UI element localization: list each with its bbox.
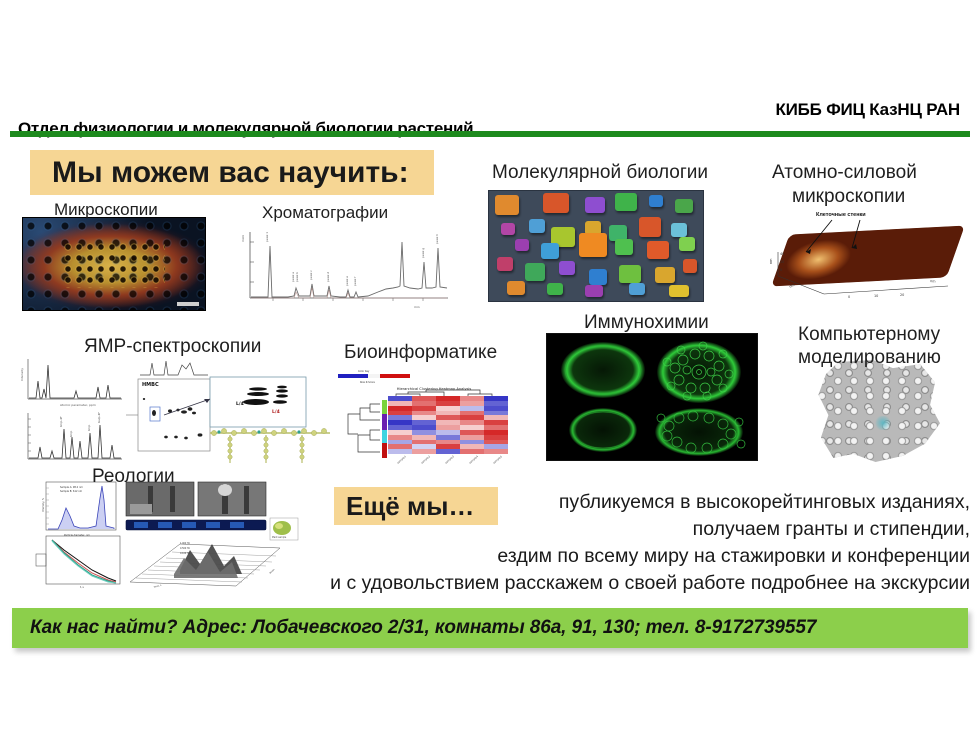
protein-model-image: [808, 356, 948, 464]
label-bioinformatics: Биоинформатике: [344, 342, 497, 364]
svg-text:sample4: sample4: [468, 454, 479, 465]
svg-text:Sample A: 98.2 nm: Sample A: 98.2 nm: [60, 486, 83, 489]
protein-ligand-site: [875, 416, 891, 430]
svg-text:sample1: sample1: [396, 454, 407, 465]
svg-text:peak b: peak b: [295, 272, 299, 282]
svg-text:peak c: peak c: [309, 270, 313, 280]
nmr-image: Intensity Atomic parameter, ppm Glcp-4F …: [14, 355, 332, 467]
svg-text:20: 20: [780, 260, 784, 264]
svg-text:HMBC: HMBC: [142, 382, 159, 388]
svg-text:sample5: sample5: [492, 454, 503, 465]
achievement-line-4: и с удовольствием расскажем о своей рабо…: [150, 570, 970, 597]
achievement-line-3: ездим по всему миру на стажировки и конф…: [150, 543, 970, 570]
label-immunochemistry: Иммунохимии: [584, 312, 709, 334]
heatmap-cell: [436, 449, 460, 454]
bioinf-group-4: [382, 443, 387, 458]
contact-footer-bar: Как нас найти? Адрес: Лобачевского 2/31,…: [12, 608, 968, 648]
achievement-line-1: публикуемся в высокорейтинговых изданиях…: [150, 489, 970, 516]
svg-text:0: 0: [848, 295, 850, 299]
contact-footer-text: Как нас найти? Адрес: Лобачевского 2/31,…: [12, 617, 816, 639]
svg-text:Galp-4F: Galp-4F: [97, 412, 101, 423]
svg-text:sample3: sample3: [444, 454, 455, 465]
microscopy-vascular-bundle: [63, 242, 165, 288]
svg-text:Glcp-4F: Glcp-4F: [59, 416, 63, 427]
microscopy-image: [22, 217, 206, 311]
svg-text:20: 20: [900, 293, 904, 297]
svg-text:Glcp: Glcp: [69, 431, 73, 437]
heatmap-cell: [412, 449, 436, 454]
protein-surface: [816, 360, 940, 462]
heatmap-cell: [388, 449, 412, 454]
microscopy-scale-bar: [177, 302, 199, 306]
svg-text:peak h: peak h: [435, 234, 439, 244]
label-nmr: ЯМР-спектроскопии: [84, 336, 261, 358]
svg-text:sample2: sample2: [420, 454, 431, 465]
label-rheology: Реологии: [92, 466, 175, 488]
svg-text:min: min: [414, 305, 420, 309]
svg-text:peak 1: peak 1: [265, 232, 269, 242]
afm-image: Клеточные стенки nm nm nm 40200 01020: [762, 208, 968, 300]
svg-text:Atomic parameter, ppm: Atomic parameter, ppm: [60, 403, 96, 407]
bioinf-group-2: [382, 414, 387, 430]
svg-text:Glcp: Glcp: [87, 425, 91, 431]
svg-text:peak e: peak e: [345, 276, 349, 286]
nmr-peak-label-left: L/4: [236, 401, 244, 407]
bioinf-title: Hierarchical Clustering Heatmap Analysis: [397, 387, 472, 391]
label-modeling-line1: Компьютерному: [798, 324, 940, 346]
svg-text:Sample B: 612 nm: Sample B: 612 nm: [60, 490, 83, 493]
nmr-svg: Intensity Atomic parameter, ppm Glcp-4F …: [14, 355, 332, 467]
label-modeling-line2: моделированию: [798, 347, 941, 369]
svg-text:mAU: mAU: [241, 235, 245, 242]
heatmap-cell: [460, 449, 484, 454]
heatmap-cell: [484, 449, 508, 454]
svg-text:peak f: peak f: [353, 276, 357, 286]
svg-text:Row Z-Score: Row Z-Score: [360, 381, 375, 384]
svg-text:nm: nm: [930, 279, 937, 284]
bioinf-group-3: [382, 430, 387, 443]
chromatogram-svg: peak 1 peak a peak b peak c peak d peak …: [228, 222, 454, 312]
header-divider-rule: [10, 131, 970, 137]
bioinformatics-heatmap-image: Color Key Row Z-Score Hierarchical Clust…: [336, 368, 532, 466]
svg-text:nm: nm: [769, 258, 773, 264]
svg-text:Intensity: Intensity: [20, 368, 24, 381]
label-microscopy: Микроскопии: [54, 200, 158, 220]
callout-also-we: Ещё мы…: [334, 487, 498, 525]
svg-text:40: 40: [780, 252, 784, 256]
bioinf-heatmap-grid: [388, 396, 508, 454]
svg-text:Intensity, %: Intensity, %: [42, 497, 45, 512]
label-afm-line1: Атомно-силовой: [772, 162, 917, 184]
achievement-line-2: получаем гранты и стипендии,: [150, 516, 970, 543]
svg-text:nm: nm: [789, 282, 796, 288]
afm-axes-svg: nm nm nm 40200 01020: [762, 208, 968, 300]
svg-text:Color Key: Color Key: [358, 370, 370, 373]
molecular-biology-image: [488, 190, 704, 302]
label-molecular-biology: Молекулярной биологии: [492, 162, 708, 184]
svg-text:peak d: peak d: [326, 272, 330, 282]
immunochemistry-image: [546, 333, 758, 461]
svg-text:10: 10: [874, 294, 878, 298]
nmr-peak-label-right: L/4: [272, 409, 280, 415]
svg-text:t, s: t, s: [80, 586, 84, 589]
organization-name: КИББ ФИЦ КазНЦ РАН: [775, 100, 960, 120]
svg-text:peak g: peak g: [421, 248, 425, 258]
immuno-svg: [547, 334, 757, 460]
label-chromatography: Хроматографии: [262, 203, 388, 223]
achievements-text-block: публикуемся в высокорейтинговых изданиях…: [150, 489, 970, 597]
slide-canvas: КИББ ФИЦ КазНЦ РАН Отдел физиологии и мо…: [0, 0, 980, 735]
bioinf-group-1: [382, 400, 387, 414]
chromatogram-image: peak 1 peak a peak b peak c peak d peak …: [228, 222, 454, 312]
callout-we-can-teach: Мы можем вас научить:: [30, 150, 434, 195]
label-afm-line2: микроскопии: [792, 186, 905, 208]
svg-text:0: 0: [780, 268, 782, 272]
